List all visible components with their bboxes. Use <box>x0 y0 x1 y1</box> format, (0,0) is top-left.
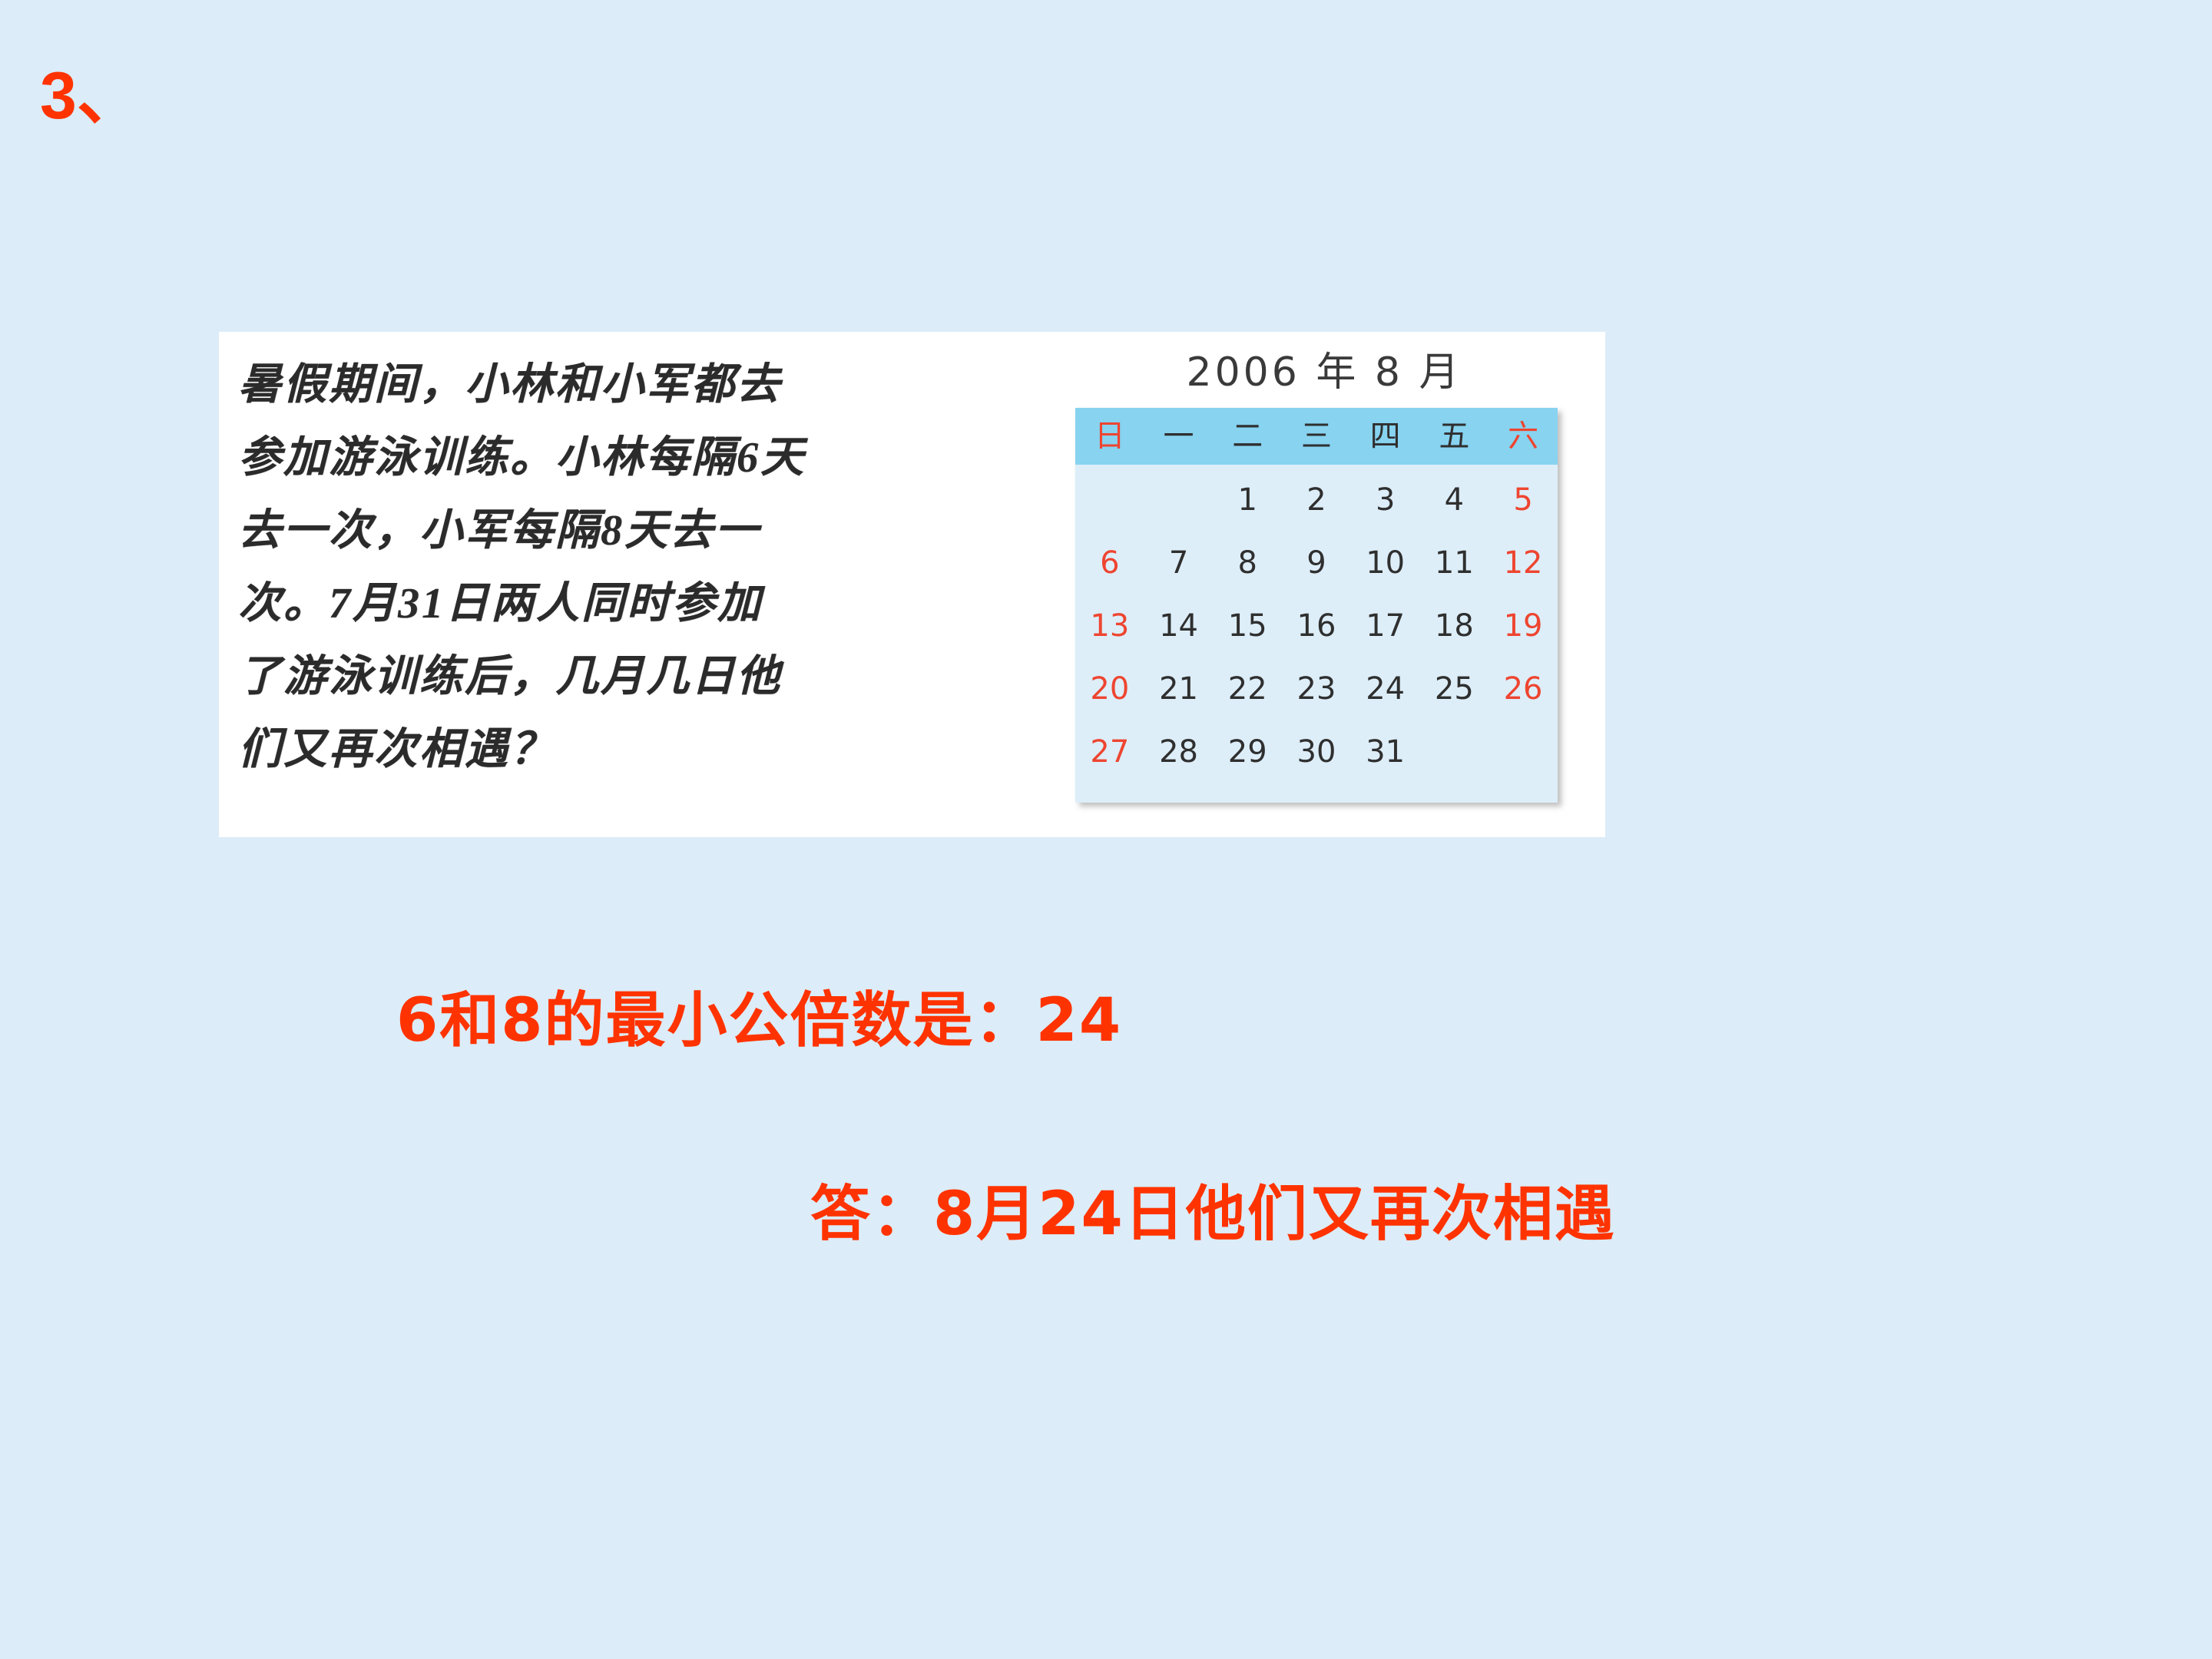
calendar-week-row: 6 7 8 9 10 11 12 <box>1075 535 1558 591</box>
calendar-day-cell: 2 <box>1282 485 1351 515</box>
calendar-week-row: 20 21 22 23 24 25 26 <box>1075 661 1558 717</box>
calendar-day-cell: 17 <box>1351 611 1420 641</box>
calendar-day-cell: 29 <box>1213 737 1282 767</box>
calendar-title: 2006 年 8 月 <box>1075 339 1573 408</box>
calendar-day-cell: 15 <box>1213 611 1282 641</box>
calendar-day-cell: 1 <box>1213 485 1282 515</box>
calendar-grid: 日 一 二 三 四 五 六 1 2 3 4 5 6 7 8 9 <box>1075 408 1558 803</box>
calendar-day-cell: 30 <box>1282 737 1351 767</box>
calendar: 2006 年 8 月 日 一 二 三 四 五 六 1 2 3 4 5 <box>1075 339 1573 803</box>
problem-text-line: 次。7月31日两人同时参加 <box>238 568 952 641</box>
calendar-day-cell: 28 <box>1144 737 1214 767</box>
calendar-day-cell: 25 <box>1420 674 1489 704</box>
calendar-day-cell: 5 <box>1488 485 1558 515</box>
calendar-week-row: 13 14 15 16 17 18 19 <box>1075 598 1558 654</box>
calendar-weekday-header: 四 <box>1351 421 1420 452</box>
calendar-day-cell: 22 <box>1213 674 1282 704</box>
problem-text-line: 了游泳训练后，几月几日他 <box>238 641 952 714</box>
calendar-weekday-header: 五 <box>1420 421 1489 452</box>
calendar-day-cell: 16 <box>1282 611 1351 641</box>
calendar-day-cell: 21 <box>1144 674 1214 704</box>
final-answer-statement: 答：8月24日他们又再次相遇 <box>810 1166 1616 1252</box>
calendar-weekday-header: 三 <box>1282 421 1351 452</box>
question-number: 3、 <box>40 63 143 129</box>
calendar-day-cell: 10 <box>1351 548 1420 578</box>
problem-text-line: 们又再次相遇？ <box>238 714 952 786</box>
calendar-day-cell: 26 <box>1488 674 1558 704</box>
calendar-day-cell: 7 <box>1144 548 1214 578</box>
calendar-day-cell: 20 <box>1075 674 1144 704</box>
calendar-header-row: 日 一 二 三 四 五 六 <box>1075 408 1558 465</box>
problem-card: 暑假期间，小林和小军都去 参加游泳训练。小林每隔6天 去一次，小军每隔8天去一 … <box>219 332 1605 837</box>
calendar-day-cell: 8 <box>1213 548 1282 578</box>
calendar-weekday-header: 一 <box>1144 421 1214 452</box>
problem-text-line: 参加游泳训练。小林每隔6天 <box>238 422 952 495</box>
calendar-weekday-header: 六 <box>1488 421 1558 452</box>
calendar-day-cell: 18 <box>1420 611 1489 641</box>
calendar-day-cell: 24 <box>1351 674 1420 704</box>
calendar-week-row: 27 28 29 30 31 <box>1075 724 1558 780</box>
calendar-day-cell: 13 <box>1075 611 1144 641</box>
calendar-day-cell: 12 <box>1488 548 1558 578</box>
calendar-weekday-header: 日 <box>1075 421 1144 452</box>
calendar-day-cell: 19 <box>1488 611 1558 641</box>
calendar-day-cell: 11 <box>1420 548 1489 578</box>
calendar-day-cell: 14 <box>1144 611 1214 641</box>
calendar-day-cell: 3 <box>1351 485 1420 515</box>
calendar-weekday-header: 二 <box>1213 421 1282 452</box>
calendar-day-cell: 27 <box>1075 737 1144 767</box>
problem-text-line: 暑假期间，小林和小军都去 <box>238 349 952 422</box>
lcm-statement: 6和8的最小公倍数是：24 <box>396 972 1122 1058</box>
calendar-day-cell: 23 <box>1282 674 1351 704</box>
calendar-week-row: 1 2 3 4 5 <box>1075 472 1558 528</box>
calendar-day-cell: 6 <box>1075 548 1144 578</box>
handwritten-problem-text: 暑假期间，小林和小军都去 参加游泳训练。小林每隔6天 去一次，小军每隔8天去一 … <box>238 349 952 786</box>
calendar-day-cell: 9 <box>1282 548 1351 578</box>
problem-text-line: 去一次，小军每隔8天去一 <box>238 495 952 568</box>
calendar-day-cell: 31 <box>1351 737 1420 767</box>
calendar-day-cell: 4 <box>1420 485 1489 515</box>
